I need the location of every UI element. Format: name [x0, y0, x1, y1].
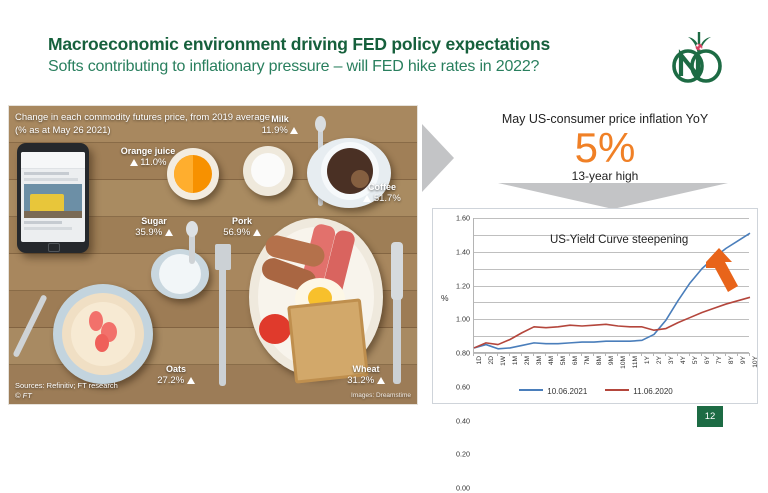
commodity-name: Coffee: [351, 182, 413, 193]
chart-x-tick-mark: [521, 353, 522, 356]
chart-x-tick-mark: [713, 353, 714, 356]
inflation-callout-subtext: 13-year high: [470, 169, 740, 183]
chart-x-tick-mark: [569, 353, 570, 356]
up-triangle-icon: [130, 159, 138, 166]
chart-x-tick-label: 5M: [560, 356, 567, 365]
chart-y-tick-label: 0.40: [456, 416, 470, 425]
right-arrow-icon: [422, 124, 454, 192]
up-triangle-icon: [290, 127, 298, 134]
chart-plot-area: 0.000.200.400.600.801.001.201.401.60 US-…: [473, 218, 749, 353]
slide-header: Macroeconomic environment driving FED po…: [0, 0, 768, 100]
commodity-name: Sugar: [123, 216, 185, 227]
chart-x-tick-label: 7M: [584, 356, 591, 365]
commodity-value: 51.7%: [374, 193, 401, 204]
smartphone-image: [17, 143, 89, 253]
chart-x-tick-label: 9Y: [740, 356, 747, 364]
commodity-value: 27.2%: [157, 375, 184, 386]
chart-x-tick-label: 1D: [476, 356, 483, 364]
photo-source-line1: Sources: Refinitiv; FT research: [15, 381, 118, 390]
chart-y-tick-label: 0.00: [456, 484, 470, 493]
chart-x-tick-mark: [701, 353, 702, 356]
down-arrow-icon: [498, 183, 728, 209]
milk-spoon-bowl: [315, 116, 326, 132]
milk-jug-image: [251, 153, 285, 187]
chart-x-tick-label: 7Y: [716, 356, 723, 364]
commodity-name: Milk: [249, 114, 311, 125]
chart-legend-item[interactable]: 10.06.2021: [519, 387, 587, 396]
up-triangle-icon: [377, 377, 385, 384]
chart-x-tick-mark: [497, 353, 498, 356]
commodity-label-wheat: Wheat 31.2%: [335, 364, 397, 387]
chart-x-tick-label: 3M: [536, 356, 543, 365]
up-triangle-icon: [363, 195, 371, 202]
commodity-label-sugar: Sugar 35.9%: [123, 216, 185, 239]
photo-image-credit: Images: Dreamstime: [351, 392, 411, 399]
chart-y-tick-label: 1.40: [456, 247, 470, 256]
strawberry-image: [95, 334, 109, 352]
page-subtitle: Softs contributing to inflationary press…: [48, 58, 539, 76]
chart-y-tick-label: 1.00: [456, 315, 470, 324]
commodity-value: 35.9%: [135, 227, 162, 238]
chart-x-tick-mark: [629, 353, 630, 356]
chart-y-axis-label: %: [441, 293, 449, 303]
company-logo-icon: [668, 28, 724, 86]
commodity-label-orange-juice: Orange juice 11.0%: [113, 146, 183, 169]
chart-y-tick-label: 0.80: [456, 349, 470, 358]
chart-x-tick-mark: [509, 353, 510, 356]
chart-y-tick-label: 0.20: [456, 450, 470, 459]
photo-source-line2: © FT: [15, 391, 32, 400]
chart-legend-swatch: [519, 389, 543, 391]
commodity-value: 11.9%: [262, 125, 288, 136]
chart-x-tick-label: 8Y: [728, 356, 735, 364]
yield-curve-chart: % 0.000.200.400.600.801.001.201.401.60 U…: [432, 208, 758, 404]
chart-x-tick-mark: [545, 353, 546, 356]
commodity-photo-panel: Change in each commodity futures price, …: [8, 105, 418, 405]
chart-x-tick-label: 6M: [572, 356, 579, 365]
chart-x-tick-mark: [677, 353, 678, 356]
chart-x-tick-label: 10Y: [752, 356, 759, 368]
up-triangle-icon: [187, 377, 195, 384]
chart-legend-item[interactable]: 11.06.2020: [605, 387, 672, 396]
page-title: Macroeconomic environment driving FED po…: [48, 34, 550, 55]
chart-x-tick-label: 2Y: [656, 356, 663, 364]
chart-x-tick-label: 3Y: [668, 356, 675, 364]
chart-x-tick-mark: [617, 353, 618, 356]
commodity-label-coffee: Coffee 51.7%: [351, 182, 413, 205]
chart-x-tick-label: 4Y: [680, 356, 687, 364]
sugar-spoon-bowl: [186, 221, 198, 237]
chart-x-tick-mark: [593, 353, 594, 356]
chart-x-tick-mark: [665, 353, 666, 356]
commodity-label-milk: Milk 11.9%: [249, 114, 311, 137]
chart-x-tick-mark: [737, 353, 738, 356]
chart-x-tick-label: 5Y: [692, 356, 699, 364]
chart-y-tick-label: 1.20: [456, 281, 470, 290]
photo-caption-line1: Change in each commodity futures price, …: [15, 112, 270, 123]
chart-x-tick-mark: [485, 353, 486, 356]
chart-legend-label: 11.06.2020: [633, 387, 672, 396]
fork-tines: [215, 244, 231, 270]
chart-legend: 10.06.202111.06.2020: [433, 387, 759, 396]
chart-x-tick-mark: [641, 353, 642, 356]
chart-x-tick-mark: [557, 353, 558, 356]
chart-x-tick-mark: [581, 353, 582, 356]
commodity-name: Oats: [145, 364, 207, 375]
orange-up-arrow-icon: [702, 246, 746, 296]
chart-x-tick-mark: [653, 353, 654, 356]
chart-x-tick-label: 2D: [488, 356, 495, 364]
chart-legend-swatch: [605, 389, 629, 391]
chart-x-tick-mark: [473, 353, 474, 356]
chart-x-tick-mark: [605, 353, 606, 356]
ketchup-image: [259, 314, 291, 344]
commodity-label-oats: Oats 27.2%: [145, 364, 207, 387]
commodity-value: 56.9%: [223, 227, 250, 238]
chart-x-tick-label: 9M: [608, 356, 615, 365]
chart-x-tick-label: 1W: [500, 356, 507, 366]
knife-blade: [391, 242, 403, 300]
up-triangle-icon: [253, 229, 261, 236]
chart-x-tick-label: 11M: [632, 356, 639, 368]
chart-line-11.06.2020: [474, 297, 750, 348]
commodity-name: Wheat: [335, 364, 397, 375]
commodity-name: Pork: [211, 216, 273, 227]
chart-x-tick-label: 10M: [620, 356, 627, 369]
chart-legend-label: 10.06.2021: [547, 387, 587, 396]
chart-x-tick-label: 1Y: [644, 356, 651, 364]
chart-x-tick-label: 8M: [596, 356, 603, 365]
page-number-badge: 12: [697, 406, 723, 427]
chart-x-tick-mark: [689, 353, 690, 356]
commodity-value: 11.0%: [140, 157, 166, 168]
photo-caption-line2: (% as at May 26 2021): [15, 125, 111, 136]
chart-y-tick-label: 1.60: [456, 214, 470, 223]
chart-x-tick-label: 1M: [512, 356, 519, 365]
chart-x-tick-mark: [533, 353, 534, 356]
commodity-value: 31.2%: [347, 375, 374, 386]
commodity-label-pork: Pork 56.9%: [211, 216, 273, 239]
inflation-callout-value: 5%: [470, 128, 740, 168]
chart-x-tick-mark: [749, 353, 750, 356]
up-triangle-icon: [165, 229, 173, 236]
chart-x-tick-label: 4M: [548, 356, 555, 365]
chart-gridline: 0.00: [474, 353, 749, 354]
chart-x-tick-label: 2M: [524, 356, 531, 365]
commodity-name: Orange juice: [113, 146, 183, 157]
inflation-callout: May US-consumer price inflation YoY 5% 1…: [470, 112, 740, 183]
chart-x-tick-label: 6Y: [704, 356, 711, 364]
chart-x-tick-mark: [725, 353, 726, 356]
